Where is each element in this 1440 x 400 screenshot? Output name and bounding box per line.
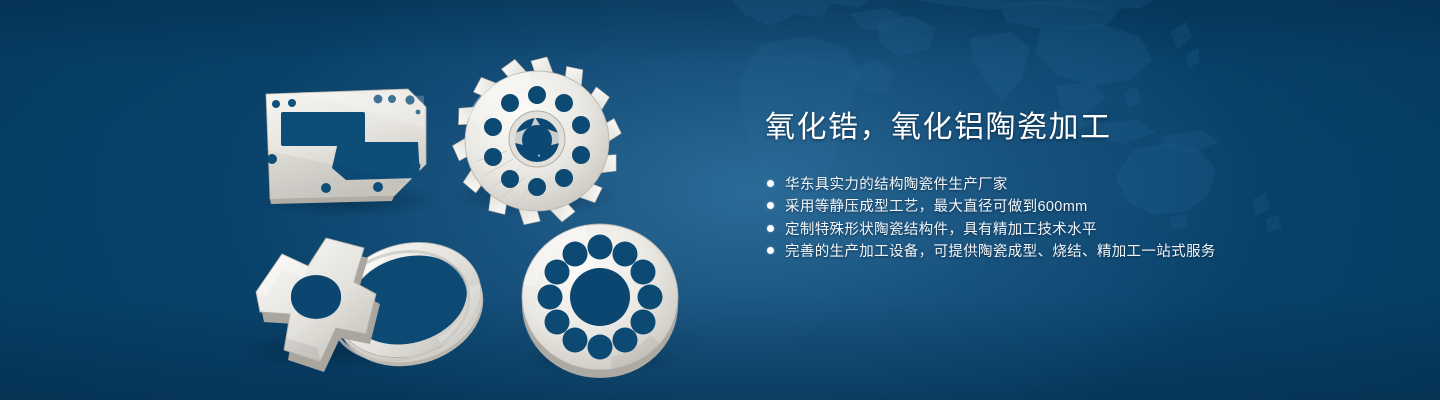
list-item-label: 采用等静压成型工艺，最大直径可做到600mm <box>785 195 1088 216</box>
banner-copy: 氧化锆，氧化铝陶瓷加工 华东具实力的结构陶瓷件生产厂家 采用等静压成型工艺，最大… <box>765 108 1385 262</box>
bullet-dot-icon <box>767 180 774 187</box>
bullet-dot-icon <box>767 225 774 232</box>
feature-list: 华东具实力的结构陶瓷件生产厂家 采用等静压成型工艺，最大直径可做到600mm 定… <box>767 172 1385 262</box>
bullet-dot-icon <box>767 247 774 254</box>
list-item-label: 完善的生产加工设备，可提供陶瓷成型、烧结、精加工一站式服务 <box>785 240 1216 261</box>
list-item: 完善的生产加工设备，可提供陶瓷成型、烧结、精加工一站式服务 <box>767 240 1385 263</box>
list-item-label: 华东具实力的结构陶瓷件生产厂家 <box>785 173 1008 194</box>
ceramic-processing-banner: 氧化锆，氧化铝陶瓷加工 华东具实力的结构陶瓷件生产厂家 采用等静压成型工艺，最大… <box>0 0 1440 400</box>
list-item-label: 定制特殊形状陶瓷结构件，具有精加工技术水平 <box>785 218 1097 239</box>
bullet-dot-icon <box>767 202 774 209</box>
list-item: 定制特殊形状陶瓷结构件，具有精加工技术水平 <box>767 217 1385 240</box>
page-title: 氧化锆，氧化铝陶瓷加工 <box>765 108 1385 148</box>
list-item: 采用等静压成型工艺，最大直径可做到600mm <box>767 195 1385 218</box>
list-item: 华东具实力的结构陶瓷件生产厂家 <box>767 172 1385 195</box>
